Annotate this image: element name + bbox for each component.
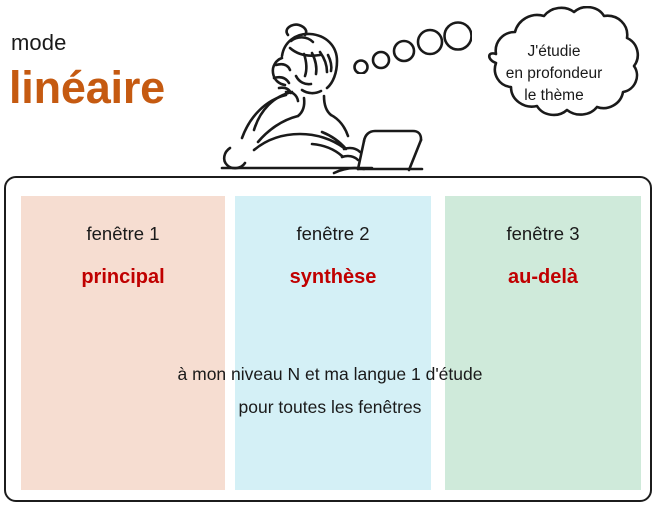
window-column-2-title: fenêtre 2: [235, 222, 431, 246]
thought-bubble: J'étudie en profondeur le thème: [452, 6, 656, 138]
thought-line-3: le thème: [524, 85, 583, 107]
window-column-3[interactable]: fenêtre 3 au-delà: [445, 196, 641, 490]
thought-bubble-text: J'étudie en profondeur le thème: [452, 6, 656, 138]
thought-line-2: en profondeur: [506, 63, 603, 85]
thought-line-1: J'étudie: [528, 41, 581, 63]
window-column-1-title: fenêtre 1: [21, 222, 225, 246]
header-area: mode linéaire: [0, 0, 659, 176]
mode-label: mode: [11, 30, 66, 56]
window-column-2-keyword: synthèse: [235, 264, 431, 290]
columns-container: fenêtre 1 principal fenêtre 2 synthèse f…: [6, 178, 654, 504]
windows-panel: fenêtre 1 principal fenêtre 2 synthèse f…: [4, 176, 652, 502]
window-column-3-keyword: au-delà: [445, 264, 641, 290]
window-column-1-keyword: principal: [21, 264, 225, 290]
mode-value: linéaire: [9, 62, 165, 114]
window-column-1[interactable]: fenêtre 1 principal: [21, 196, 225, 490]
window-column-3-title: fenêtre 3: [445, 222, 641, 246]
window-column-2[interactable]: fenêtre 2 synthèse: [235, 196, 431, 490]
